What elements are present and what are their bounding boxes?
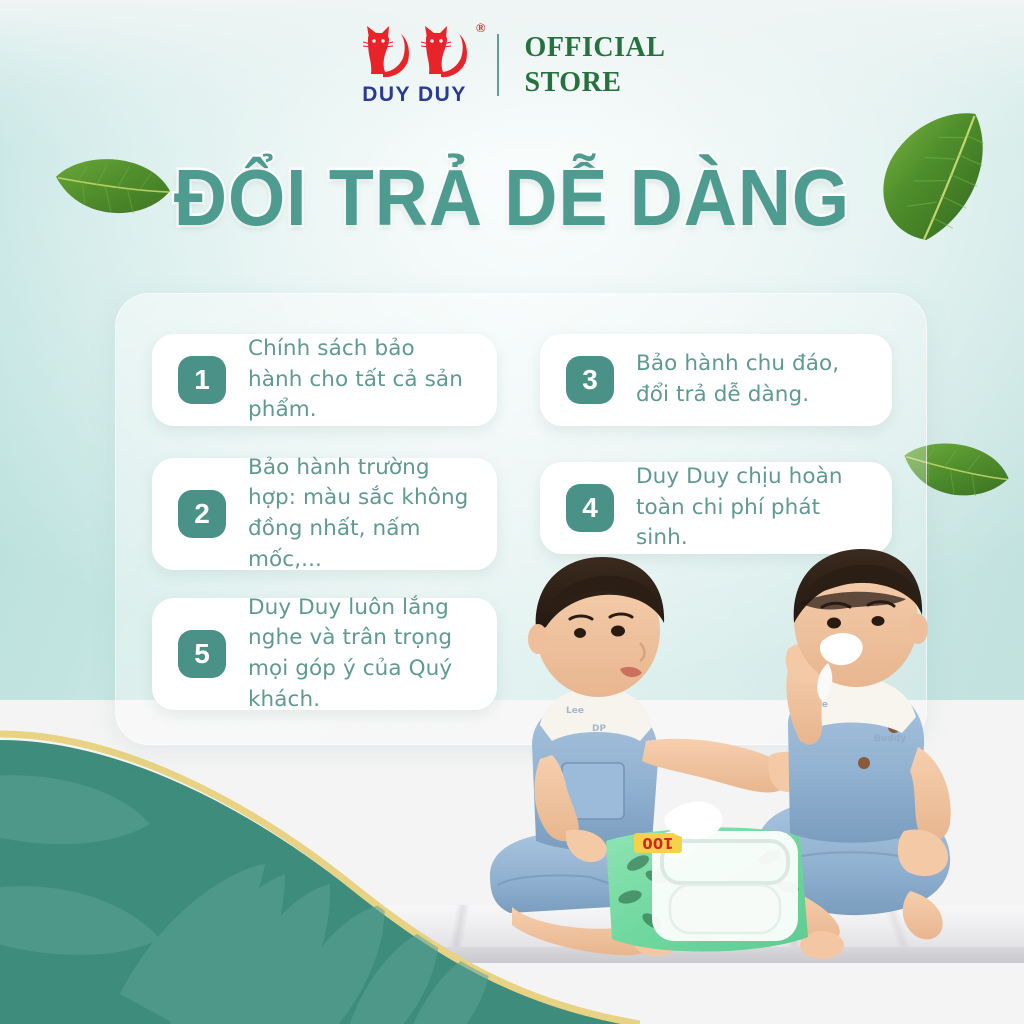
card-text: Chính sách bảo hành cho tất cả sản phẩm. (248, 334, 471, 426)
policy-card-4: 4 Duy Duy chịu hoàn toàn chi phí phát si… (540, 462, 892, 554)
promo-banner: ® DUY DUY OFFICIAL STORE ĐỔI TRẢ DỄ DÀNG… (0, 0, 1024, 1024)
card-number-badge: 2 (178, 490, 226, 538)
official-store-label: OFFICIAL STORE (525, 30, 666, 100)
card-text: Duy Duy luôn lắng nghe và trân trọng mọi… (248, 593, 471, 715)
policy-card-3: 3 Bảo hành chu đáo, đổi trả dễ dàng. (540, 334, 892, 426)
official-store-line1: OFFICIAL (525, 30, 666, 65)
card-number-badge: 5 (178, 630, 226, 678)
card-text: Bảo hành chu đáo, đổi trả dễ dàng. (636, 349, 866, 410)
card-number-badge: 1 (178, 356, 226, 404)
svg-text:DP: DP (592, 724, 606, 734)
card-text: Bảo hành trường hợp: màu sắc không đồng … (248, 453, 471, 575)
brand-logo: ® DUY DUY (359, 22, 471, 107)
page-title: ĐỔI TRẢ DỄ DÀNG (41, 152, 983, 244)
header-divider (497, 34, 499, 96)
policy-card-5: 5 Duy Duy luôn lắng nghe và trân trọng m… (152, 598, 497, 710)
cat-icon-left (359, 22, 413, 80)
official-store-line2: STORE (525, 65, 666, 100)
registered-trademark-icon: ® (476, 20, 486, 36)
cat-icon-right (417, 22, 471, 80)
svg-text:Buddy: Buddy (874, 734, 906, 744)
card-text: Duy Duy chịu hoàn toàn chi phí phát sinh… (636, 462, 866, 554)
wipes-count-label: 100 (642, 834, 673, 852)
two-red-cats-icon: ® (359, 22, 471, 80)
header-logo-bar: ® DUY DUY OFFICIAL STORE (0, 22, 1024, 107)
card-number-badge: 4 (566, 484, 614, 532)
card-number-badge: 3 (566, 356, 614, 404)
brand-name-text: DUY DUY (362, 83, 467, 107)
svg-text:Lee: Lee (566, 706, 584, 716)
policy-card-1: 1 Chính sách bảo hành cho tất cả sản phẩ… (152, 334, 497, 426)
policy-card-2: 2 Bảo hành trường hợp: màu sắc không đồn… (152, 458, 497, 570)
toddlers-photo: LeeDP (470, 545, 1024, 985)
